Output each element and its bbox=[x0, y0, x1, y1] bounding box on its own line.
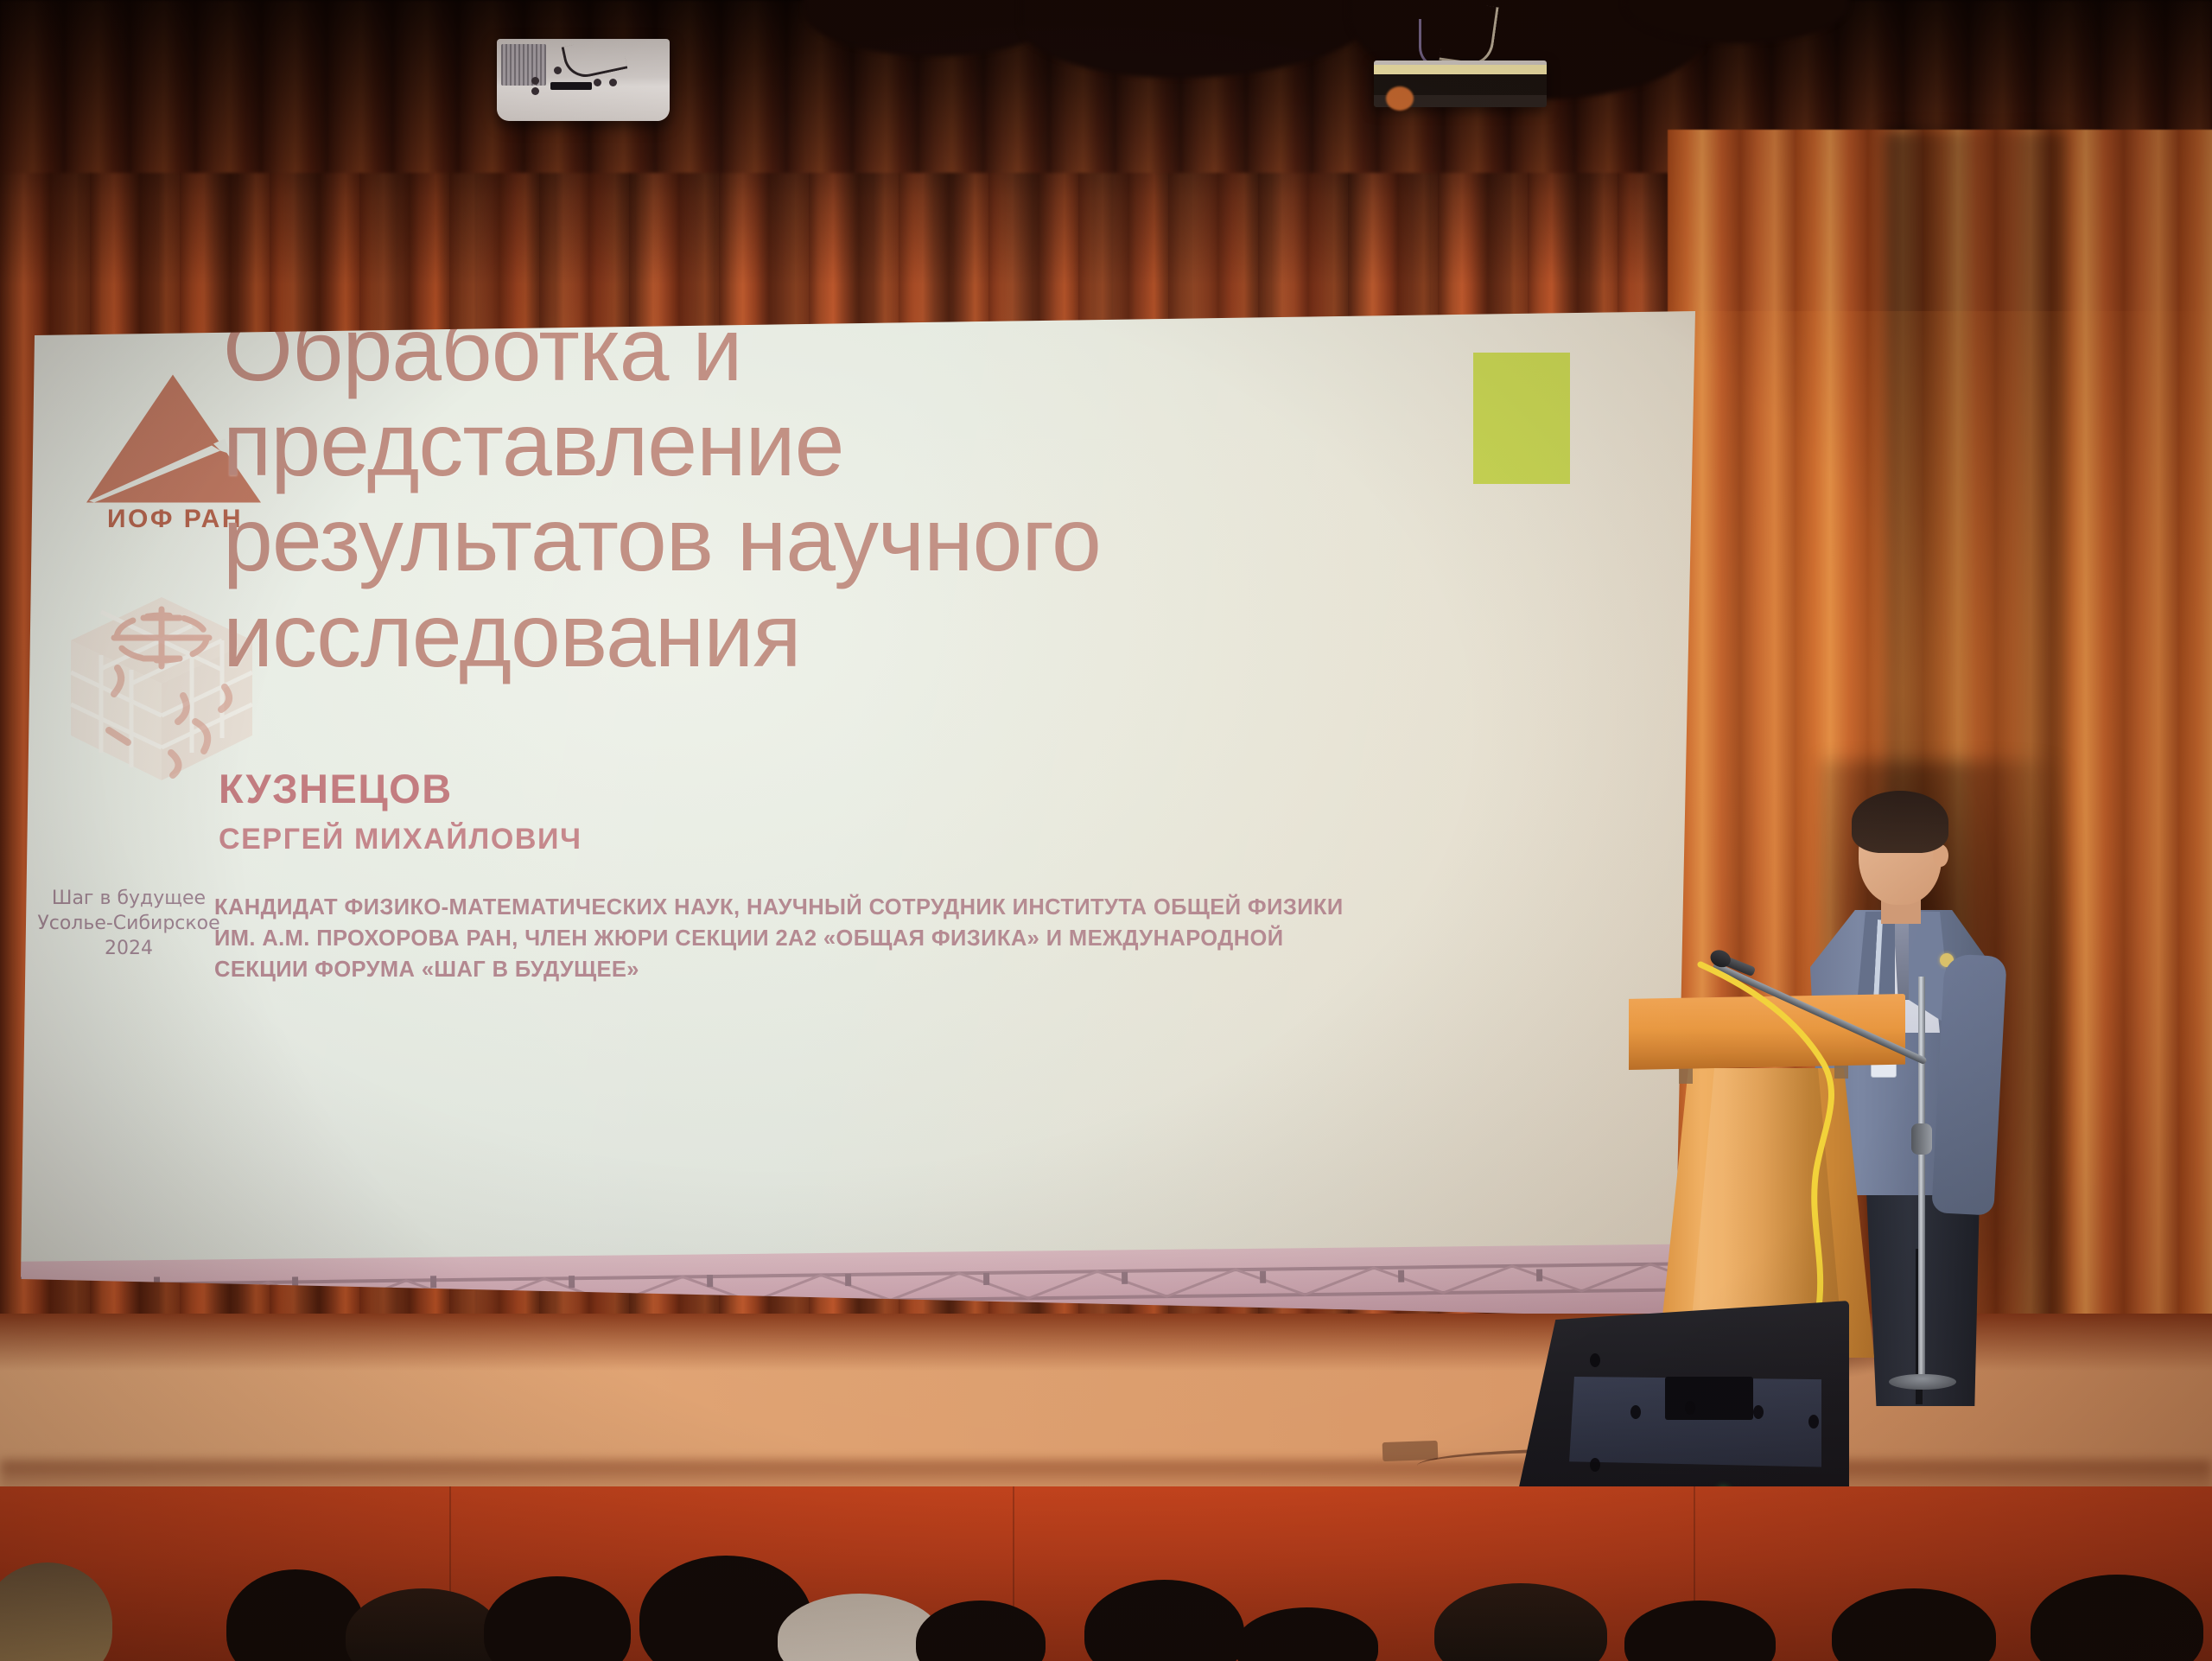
projector-knob bbox=[609, 79, 617, 86]
audience-head bbox=[1236, 1607, 1378, 1661]
projector-cable bbox=[562, 35, 628, 81]
audience-head bbox=[1434, 1583, 1607, 1661]
projector-icon bbox=[497, 39, 670, 121]
monitor-screw bbox=[1590, 1458, 1600, 1472]
audience-foreground bbox=[0, 1556, 2212, 1661]
microphone-stand bbox=[1884, 977, 1961, 1409]
projector-knob bbox=[594, 79, 601, 86]
speaker-hair bbox=[1852, 791, 1948, 853]
conference-stage-photo: ИОФ РАН bbox=[0, 0, 2212, 1661]
stage-light-icon bbox=[1374, 45, 1547, 116]
audience-head bbox=[346, 1588, 501, 1661]
monitor-screw bbox=[1808, 1415, 1819, 1429]
projector-lens bbox=[550, 82, 592, 90]
light-wiring bbox=[1419, 19, 1457, 66]
mic-stand-base bbox=[1889, 1374, 1956, 1390]
mic-stand-pole bbox=[1918, 977, 1925, 1383]
monitor-handle bbox=[1665, 1377, 1754, 1420]
light-lamp bbox=[1386, 86, 1414, 111]
audience-head bbox=[484, 1576, 631, 1661]
audience-head bbox=[1084, 1580, 1244, 1661]
projection-screen: ИОФ РАН bbox=[0, 311, 1745, 1348]
mic-stand-clutch bbox=[1911, 1123, 1932, 1155]
monitor-screw bbox=[1685, 1401, 1695, 1415]
audience-head bbox=[2031, 1575, 2203, 1661]
projector-knob bbox=[531, 87, 539, 95]
monitor-screw bbox=[1590, 1353, 1600, 1367]
audience-head bbox=[1624, 1601, 1776, 1661]
audience-head bbox=[226, 1569, 365, 1661]
projector-knob bbox=[531, 77, 539, 85]
audience-head bbox=[1832, 1588, 1996, 1661]
audience-head bbox=[916, 1601, 1046, 1661]
projector-vent bbox=[501, 44, 546, 86]
audience-head bbox=[0, 1562, 112, 1661]
projector-knob bbox=[554, 67, 562, 74]
screen-vignette bbox=[0, 311, 1745, 1348]
